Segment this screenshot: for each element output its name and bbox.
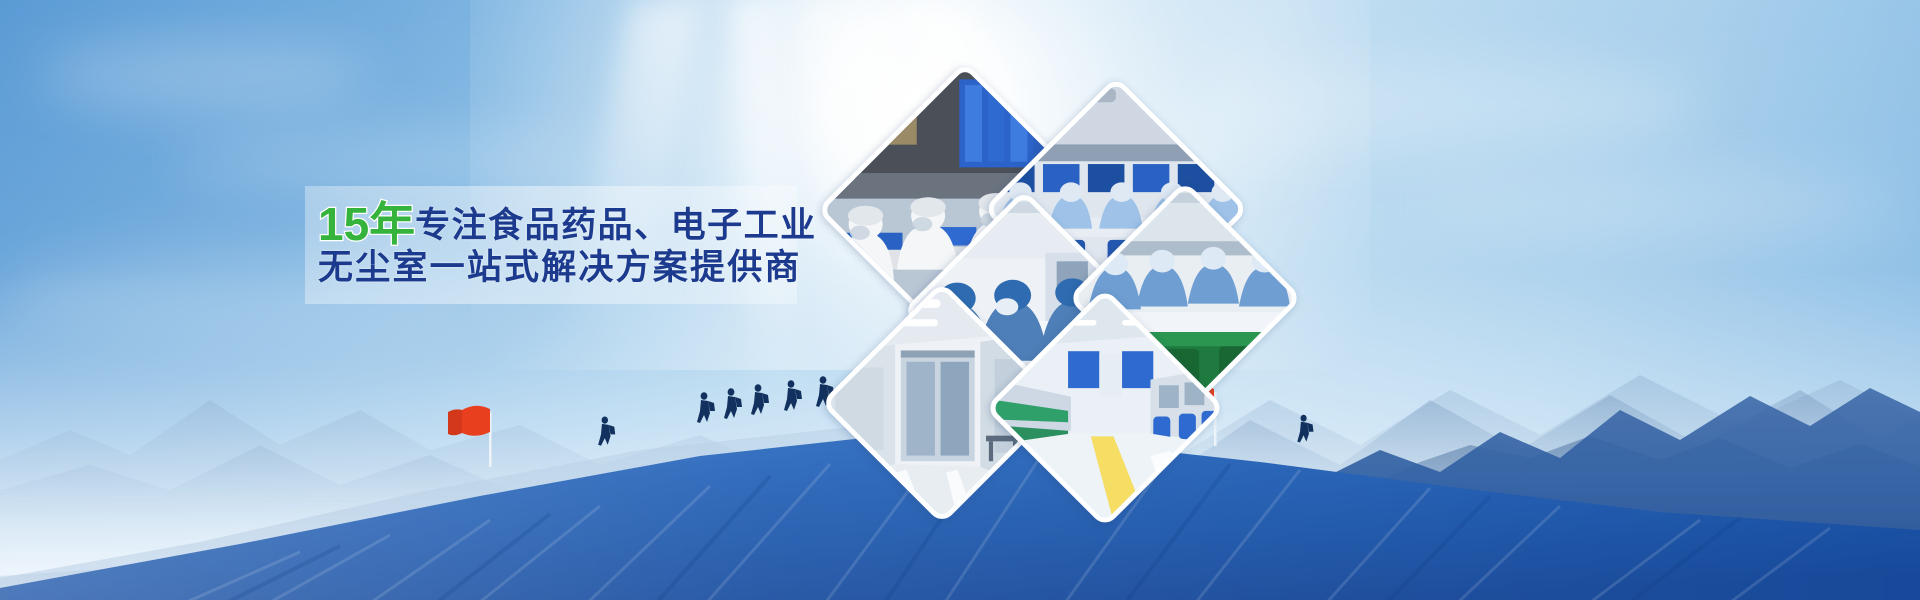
headline-line-2: 无尘室一站式解决方案提供商 [318,249,788,286]
cloud [180,130,600,190]
headline-block: 15年专注食品药品、电子工业 无尘室一站式解决方案提供商 [318,200,788,286]
hero-banner: 15年专注食品药品、电子工业 无尘室一站式解决方案提供商 [0,0,1920,600]
diamond-photo-collage [830,85,1290,475]
headline-line-1-rest: 专注食品药品、电子工业 [415,206,817,245]
cloud [40,40,370,110]
headline-line-1: 15年专注食品药品、电子工业 [318,200,788,249]
cloud [1420,170,1900,240]
red-flag-left [448,406,492,467]
years-number: 15年 [318,198,415,250]
